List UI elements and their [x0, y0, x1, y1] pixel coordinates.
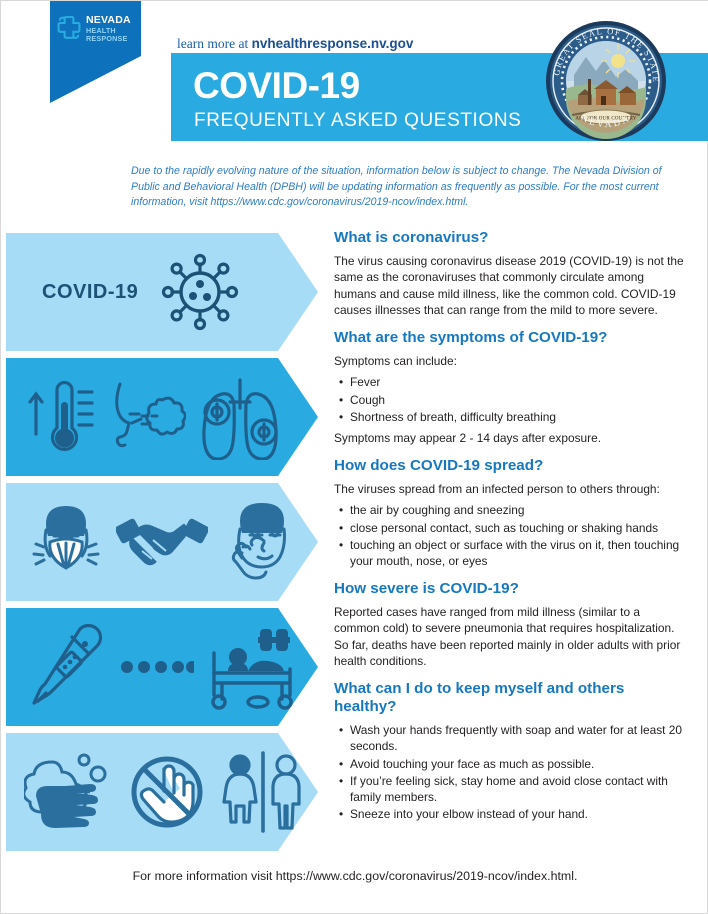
learn-more-prefix: learn more at	[177, 36, 252, 51]
faq-paragraph: The viruses spread from an infected pers…	[334, 481, 686, 497]
hospital-bed-icon	[202, 623, 298, 711]
washing-hands-icon	[24, 748, 116, 836]
faq-question: What is coronavirus?	[334, 229, 686, 247]
banner-spread	[6, 483, 318, 601]
faq-item-spread: How does COVID-19 spread? The viruses sp…	[334, 457, 686, 569]
faq-question: What are the symptoms of COVID-19?	[334, 329, 686, 347]
faq-question: What can I do to keep myself and others …	[334, 680, 686, 716]
banner-covid-19: COVID-19	[6, 233, 318, 351]
logo-line-response: RESPONSE	[86, 35, 131, 42]
banner-severity	[6, 608, 318, 726]
faq-bullet-list: the air by coughing and sneezing close p…	[334, 502, 686, 569]
covid-19-banner-label: COVID-19	[42, 281, 138, 304]
banner-symptoms	[6, 358, 318, 476]
list-item: the air by coughing and sneezing	[334, 502, 686, 518]
social-distancing-icon	[218, 749, 308, 835]
infographic-page: NEVADA HEALTH RESPONSE learn more at nvh…	[0, 0, 708, 914]
nevada-health-response-logo[interactable]: NEVADA HEALTH RESPONSE	[50, 1, 141, 56]
faq-paragraph: Reported cases have ranged from mild ill…	[334, 604, 686, 669]
face-mask-icon	[24, 500, 108, 584]
list-item: Wash your hands frequently with soap and…	[334, 722, 686, 754]
digital-thermometer-icon	[24, 621, 112, 713]
learn-more-url[interactable]: nvhealthresponse.nv.gov	[252, 36, 414, 51]
list-item: Avoid touching your face as much as poss…	[334, 756, 686, 772]
medical-cross-icon	[56, 15, 82, 43]
faq-paragraph: The virus causing coronavirus disease 20…	[334, 253, 686, 318]
logo-line-nevada: NEVADA	[86, 15, 131, 26]
faq-question: How severe is COVID-19?	[334, 580, 686, 598]
header: NEVADA HEALTH RESPONSE learn more at nvh…	[1, 1, 708, 151]
coronavirus-icon	[154, 246, 246, 338]
list-item: Cough	[334, 392, 686, 408]
disclaimer-text: Due to the rapidly evolving nature of th…	[131, 164, 676, 211]
no-touching-icon	[124, 749, 210, 835]
faq-bullet-list: Wash your hands frequently with soap and…	[334, 722, 686, 822]
list-item: Sneeze into your elbow instead of your h…	[334, 806, 686, 822]
banner-prevention	[6, 733, 318, 851]
list-item: close personal contact, such as touching…	[334, 520, 686, 536]
footer-text: For more information visit https://www.c…	[1, 869, 708, 883]
faq-question: How does COVID-19 spread?	[334, 457, 686, 475]
coughing-person-icon	[106, 376, 186, 458]
learn-more-line: learn more at nvhealthresponse.nv.gov	[177, 36, 413, 52]
faq-item-severity: How severe is COVID-19? Reported cases h…	[334, 580, 686, 669]
lungs-icon	[194, 374, 286, 460]
progression-dots-icon	[120, 657, 194, 677]
page-subtitle: FREQUENTLY ASKED QUESTIONS	[194, 111, 521, 130]
faq-bullet-list: Fever Cough Shortness of breath, difficu…	[334, 374, 686, 425]
faq-item-symptoms: What are the symptoms of COVID-19? Sympt…	[334, 329, 686, 446]
nevada-state-seal-icon: ALL FOR OUR COUNTRY THE GREAT SEAL OF TH…	[544, 19, 668, 143]
icon-banner-column: COVID-19	[6, 233, 318, 858]
touching-face-icon	[216, 499, 300, 585]
faq-content: What is coronavirus? The virus causing c…	[334, 229, 686, 833]
logo-line-health: HEALTH	[86, 27, 131, 34]
faq-after-note: Symptoms may appear 2 - 14 days after ex…	[334, 430, 686, 446]
faq-item-prevention: What can I do to keep myself and others …	[334, 680, 686, 822]
list-item: touching an object or surface with the v…	[334, 537, 686, 569]
list-item: If you’re feeling sick, stay home and av…	[334, 773, 686, 805]
faq-item-what-is-coronavirus: What is coronavirus? The virus causing c…	[334, 229, 686, 318]
faq-paragraph: Symptoms can include:	[334, 353, 686, 369]
page-title: COVID-19	[193, 67, 360, 104]
logo-triangle-accent	[50, 56, 141, 103]
list-item: Shortness of breath, difficulty breathin…	[334, 409, 686, 425]
thermometer-fever-icon	[24, 372, 98, 462]
handshake-icon	[116, 507, 208, 577]
list-item: Fever	[334, 374, 686, 390]
